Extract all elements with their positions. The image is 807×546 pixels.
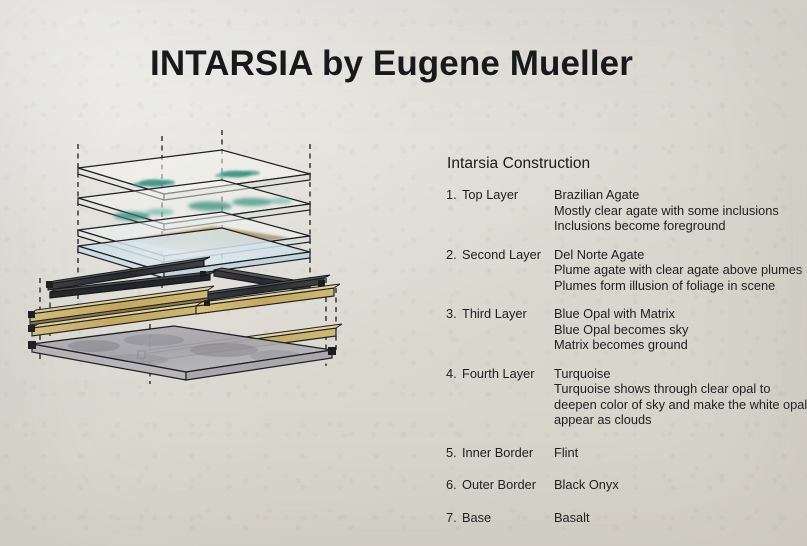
item-number: 2. bbox=[446, 247, 462, 263]
item-description: Basalt bbox=[554, 510, 798, 526]
list-item: 6. Outer Border Black Onyx bbox=[446, 477, 798, 493]
item-label: Base bbox=[462, 510, 554, 526]
list-item: 4. Fourth Layer Turquoise Turquoise show… bbox=[446, 366, 798, 428]
item-number: 4. bbox=[446, 366, 462, 382]
desc-line: Turquoise bbox=[554, 366, 807, 382]
desc-line: Matrix becomes ground bbox=[554, 337, 798, 353]
desc-line: Flint bbox=[554, 445, 798, 461]
desc-line: Turquoise shows through clear opal to bbox=[554, 381, 807, 397]
desc-line: Basalt bbox=[554, 510, 798, 526]
sign-board: INTARSIA by Eugene Mueller bbox=[0, 0, 807, 546]
item-label: Second Layer bbox=[462, 247, 554, 263]
construction-panel: Intarsia Construction 1. Top Layer Brazi… bbox=[446, 155, 798, 542]
panel-heading: Intarsia Construction bbox=[447, 155, 798, 173]
item-number: 5. bbox=[446, 445, 462, 461]
desc-line: Plumes form illusion of foliage in scene bbox=[554, 278, 802, 294]
list-item: 5. Inner Border Flint bbox=[446, 445, 798, 461]
desc-line: Blue Opal with Matrix bbox=[554, 306, 798, 322]
item-label: Top Layer bbox=[462, 187, 554, 203]
desc-line: Inclusions become foreground bbox=[554, 218, 798, 234]
item-number: 1. bbox=[446, 187, 462, 203]
desc-line: appear as clouds bbox=[554, 412, 807, 428]
item-label: Third Layer bbox=[462, 306, 554, 322]
exploded-layer-diagram bbox=[14, 128, 364, 388]
item-label: Fourth Layer bbox=[462, 366, 554, 382]
page-title: INTARSIA by Eugene Mueller bbox=[150, 44, 633, 84]
item-description: Blue Opal with Matrix Blue Opal becomes … bbox=[554, 306, 798, 353]
item-number: 6. bbox=[446, 477, 462, 493]
diagram-svg bbox=[14, 128, 364, 388]
desc-line: Plume agate with clear agate above plume… bbox=[554, 262, 802, 278]
desc-line: deepen color of sky and make the white o… bbox=[554, 397, 807, 413]
item-label: Outer Border bbox=[462, 477, 554, 493]
list-item: 3. Third Layer Blue Opal with Matrix Blu… bbox=[446, 306, 798, 353]
list-item: 2. Second Layer Del Norte Agate Plume ag… bbox=[446, 247, 798, 294]
item-description: Flint bbox=[554, 445, 798, 461]
item-label: Inner Border bbox=[462, 445, 554, 461]
list-item: 1. Top Layer Brazilian Agate Mostly clea… bbox=[446, 187, 798, 234]
desc-line: Black Onyx bbox=[554, 477, 798, 493]
item-number: 7. bbox=[446, 510, 462, 526]
desc-line: Del Norte Agate bbox=[554, 247, 802, 263]
item-description: Black Onyx bbox=[554, 477, 798, 493]
item-description: Brazilian Agate Mostly clear agate with … bbox=[554, 187, 798, 234]
desc-line: Brazilian Agate bbox=[554, 187, 798, 203]
item-number: 3. bbox=[446, 306, 462, 322]
desc-line: Mostly clear agate with some inclusions bbox=[554, 203, 798, 219]
item-description: Turquoise Turquoise shows through clear … bbox=[554, 366, 807, 428]
list-item: 7. Base Basalt bbox=[446, 510, 798, 526]
item-description: Del Norte Agate Plume agate with clear a… bbox=[554, 247, 802, 294]
desc-line: Blue Opal becomes sky bbox=[554, 322, 798, 338]
